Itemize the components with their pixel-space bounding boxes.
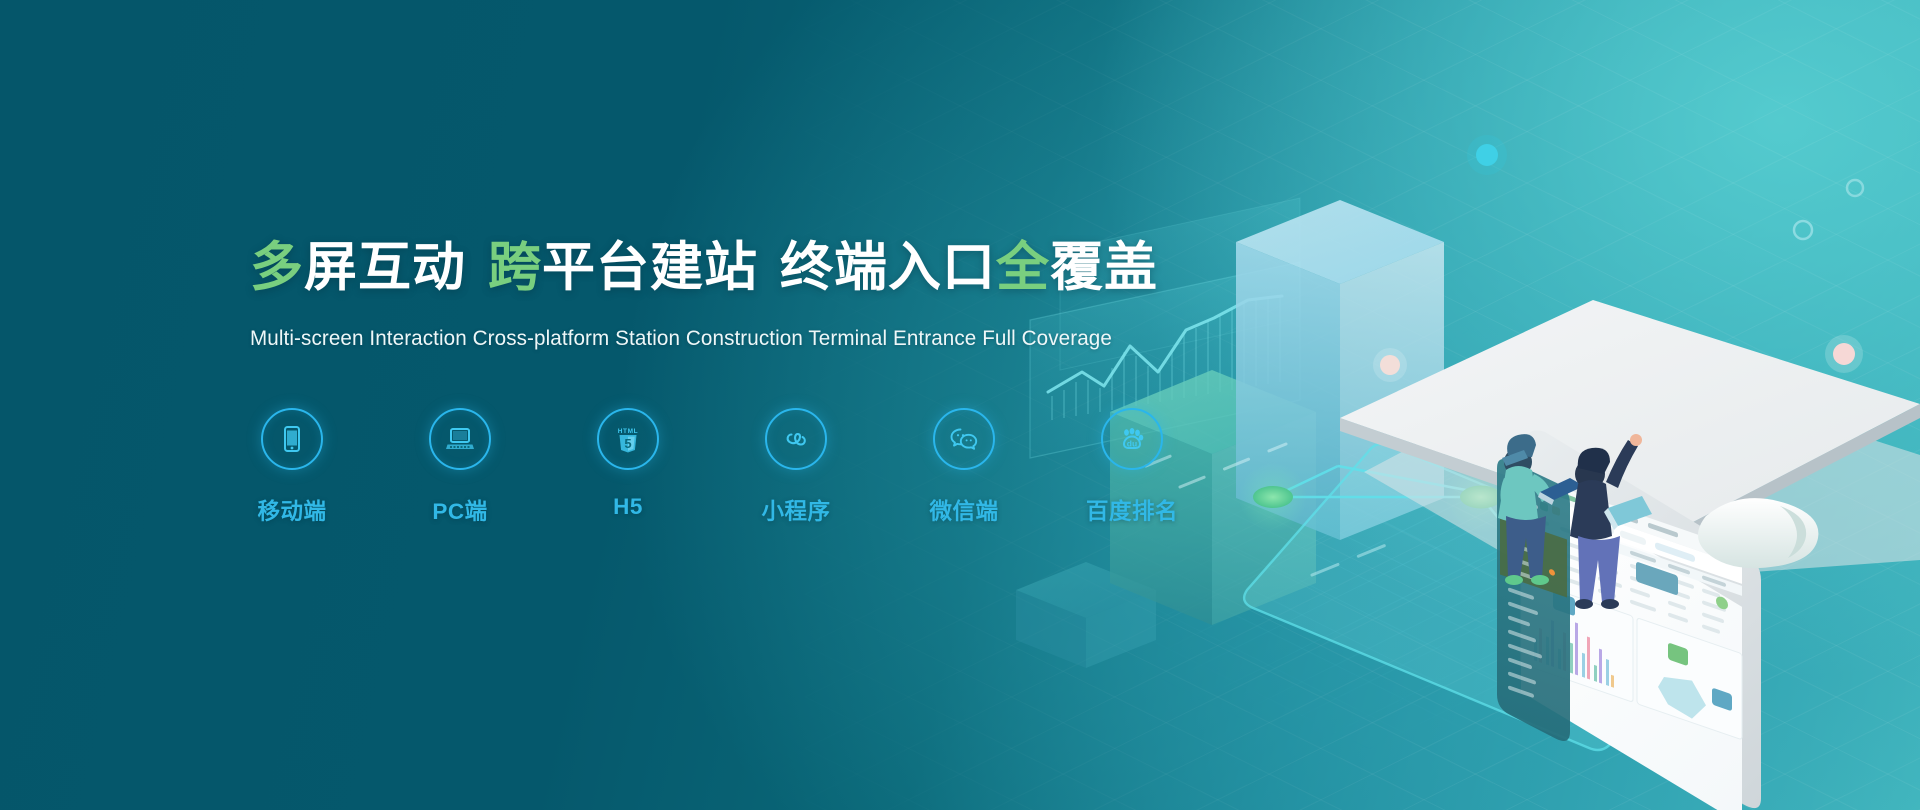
laptop-lid: [1527, 426, 1761, 810]
mini-program-icon[interactable]: [765, 408, 827, 470]
feature-item-wechat[interactable]: 微信端: [917, 408, 1011, 526]
feature-icon-row: 移动端 PC端 HTML: [245, 408, 1179, 526]
iso-bar-small: [1016, 562, 1156, 668]
iso-mousepad: [1244, 444, 1735, 750]
person-right: [1570, 434, 1652, 609]
computer-mouse: [1698, 498, 1818, 568]
svg-text:du: du: [1127, 439, 1137, 449]
accent-ring-right: [1794, 221, 1812, 239]
headline-seg-4: 终端入口: [780, 238, 996, 297]
feature-label-baidu: 百度排名: [1086, 494, 1178, 526]
feature-item-h5[interactable]: HTML 5 H5: [581, 408, 675, 526]
svg-text:HTML: HTML: [618, 428, 638, 435]
accent-ring-outline-a: [1847, 180, 1863, 196]
laptop-base: [1340, 300, 1920, 586]
iso-bar-tall: [1236, 200, 1444, 540]
baidu-paw-icon[interactable]: du: [1101, 408, 1163, 470]
feature-label-miniprogram: 小程序: [761, 494, 830, 526]
headline-seg-5: 全: [996, 238, 1050, 297]
headline-seg-6: 覆盖: [1050, 238, 1158, 297]
hero-banner: 多屏互动跨平台建站终端入口全覆盖 Multi-screen Interactio…: [0, 0, 1920, 810]
isometric-grid-pattern: [0, 0, 1920, 810]
laptop-screen: [1521, 474, 1742, 810]
feature-item-pc[interactable]: PC端: [413, 408, 507, 526]
page-title: 多屏互动跨平台建站终端入口全覆盖: [250, 238, 1110, 299]
headline-seg-3: 平台建站: [542, 238, 758, 297]
feature-item-baidu[interactable]: du 百度排名: [1085, 408, 1179, 526]
feature-label-wechat: 微信端: [929, 494, 998, 526]
node-glow-group: [1239, 461, 1594, 626]
headline-seg-1: 屏互动: [304, 238, 466, 297]
laptop-icon[interactable]: [429, 408, 491, 470]
page-subtitle: Multi-screen Interaction Cross-platform …: [250, 326, 1076, 351]
feature-label-mobile: 移动端: [257, 494, 326, 526]
hero-copy: 多屏互动跨平台建站终端入口全覆盖 Multi-screen Interactio…: [250, 238, 1110, 351]
accent-dot-pink-large: [1825, 335, 1863, 373]
accent-dot-cyan: [1467, 135, 1507, 175]
headline-seg-0: 多: [250, 238, 304, 297]
dashboard-ui: [1521, 474, 1742, 740]
feature-item-mobile[interactable]: 移动端: [245, 408, 339, 526]
floor-dashed-lines: [1146, 444, 1386, 575]
feature-label-h5: H5: [613, 494, 643, 520]
isometric-floor-grid: [1020, 300, 1920, 810]
wechat-icon[interactable]: [933, 408, 995, 470]
svg-text:5: 5: [624, 436, 631, 451]
floating-sidenav: [1497, 456, 1570, 744]
mobile-phone-icon[interactable]: [261, 408, 323, 470]
hero-illustration: [0, 0, 1920, 810]
feature-label-pc: PC端: [432, 494, 487, 526]
html5-shield-icon[interactable]: HTML 5: [597, 408, 659, 470]
headline-seg-2: 跨: [488, 238, 542, 297]
accent-dot-pink-small: [1373, 348, 1407, 382]
feature-item-miniprogram[interactable]: 小程序: [749, 408, 843, 526]
person-left: [1498, 434, 1584, 585]
node-network: [1273, 466, 1556, 588]
